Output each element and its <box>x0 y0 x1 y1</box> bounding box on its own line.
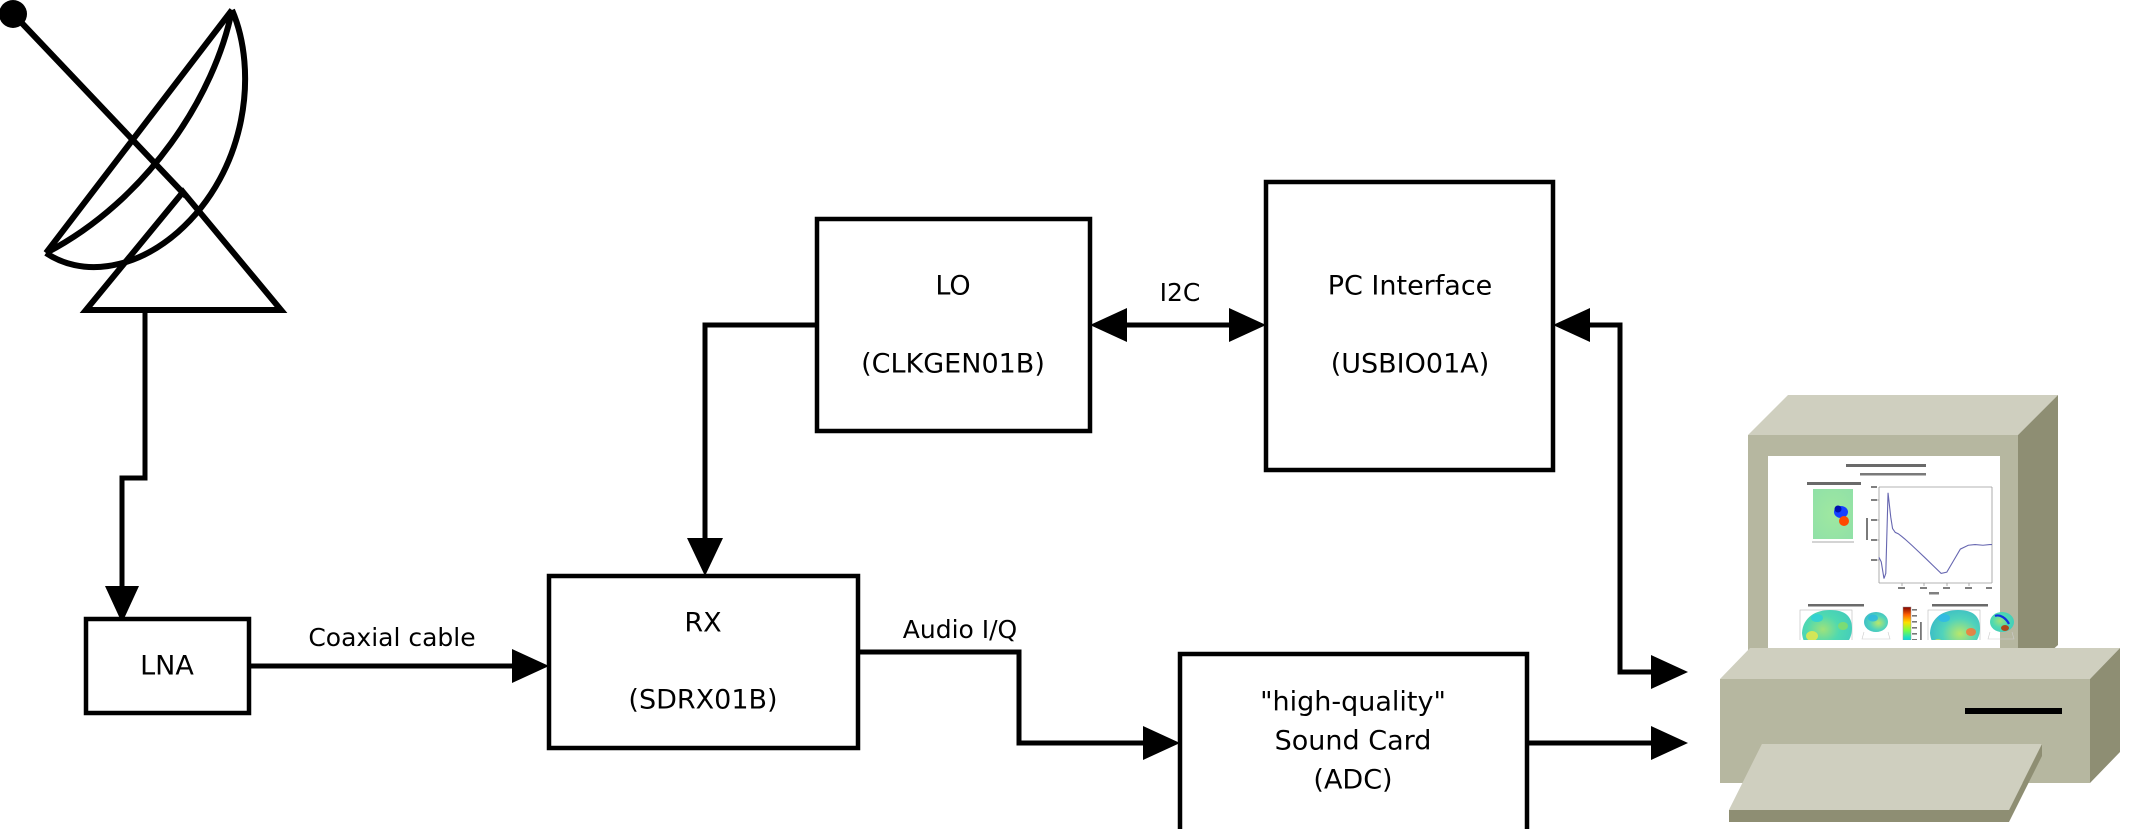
rx-partnum-label: (SDRX01B) <box>628 685 777 716</box>
lo-box[interactable] <box>817 219 1090 431</box>
pc-interface-box[interactable] <box>1266 182 1553 470</box>
diagram-canvas: LNA Coaxial cable RX (SDRX01B) LO (CLKGE… <box>0 0 2137 829</box>
rx-box[interactable] <box>549 576 858 748</box>
audio-iq-arrowhead <box>1143 726 1180 760</box>
computer-to-pcif-arrowhead <box>1553 308 1590 342</box>
fieldmap-positive-pole <box>1839 516 1849 526</box>
edge-lo-to-rx <box>687 325 817 576</box>
lo-label: LO <box>935 271 970 302</box>
edge-i2c: I2C <box>1090 278 1266 342</box>
edge-sound-card-to-computer <box>1527 726 1688 760</box>
mem-inset-head <box>1864 612 1888 632</box>
mn-title-text <box>1932 604 1988 607</box>
antenna-to-lna-wire <box>122 312 145 596</box>
edge-computer-to-pc-interface <box>1553 308 1688 689</box>
computer-to-pcif-wire <box>1571 325 1660 672</box>
block-lo[interactable]: LO (CLKGEN01B) <box>817 219 1090 431</box>
block-rx[interactable]: RX (SDRX01B) <box>549 576 858 748</box>
edge-coaxial-cable: Coaxial cable <box>249 623 549 683</box>
desktop-computer <box>1720 395 2120 822</box>
audio-iq-wire <box>858 652 1161 743</box>
sound-card-line3-label: (ADC) <box>1313 765 1392 796</box>
case-drive-slot <box>1965 708 2062 714</box>
i2c-arrowhead-right <box>1229 308 1266 342</box>
satellite-dish-antenna <box>0 0 281 623</box>
block-sound-card[interactable]: "high-quality" Sound Card (ADC) <box>1180 654 1527 829</box>
lo-to-rx-arrowhead <box>687 538 723 576</box>
block-lna[interactable]: LNA <box>86 619 249 713</box>
antenna-mount-triangle <box>86 192 281 310</box>
edge-audio-iq: Audio I/Q <box>858 615 1180 760</box>
mem-title-text <box>1808 604 1864 607</box>
fieldmap-title-text <box>1807 482 1861 485</box>
monitor-top-face <box>1748 395 2058 435</box>
sound-card-line2-label: Sound Card <box>1275 726 1432 757</box>
fieldmap-core <box>1835 506 1842 513</box>
block-pc-interface[interactable]: PC Interface (USBIO01A) <box>1266 182 1553 470</box>
pc-interface-partnum-label: (USBIO01A) <box>1331 349 1490 380</box>
rx-label: RX <box>684 608 721 639</box>
screen-panel-fieldmap <box>1807 482 1861 542</box>
pcif-to-computer-arrowhead <box>1651 655 1688 689</box>
sound-to-computer-arrowhead <box>1651 726 1688 760</box>
timecourse-ylabel-text <box>1866 518 1868 540</box>
monitor-side-face <box>2018 395 2058 680</box>
lo-to-rx-wire <box>705 325 817 550</box>
sound-card-line1-label: "high-quality" <box>1260 687 1446 718</box>
keyboard-surface <box>1729 744 2042 810</box>
i2c-arrowhead-left <box>1090 308 1127 342</box>
coaxial-cable-label: Coaxial cable <box>308 623 475 652</box>
lna-label: LNA <box>140 651 194 682</box>
lo-partnum-label: (CLKGEN01B) <box>861 349 1045 380</box>
pc-interface-label: PC Interface <box>1328 271 1493 302</box>
audio-iq-label: Audio I/Q <box>903 615 1017 644</box>
coaxial-arrowhead <box>512 649 549 683</box>
case-top-face <box>1720 648 2120 679</box>
keyboard-front-edge <box>1729 810 2009 822</box>
block-diagram-svg: LNA Coaxial cable RX (SDRX01B) LO (CLKGE… <box>0 0 2137 829</box>
i2c-label: I2C <box>1160 278 1201 307</box>
